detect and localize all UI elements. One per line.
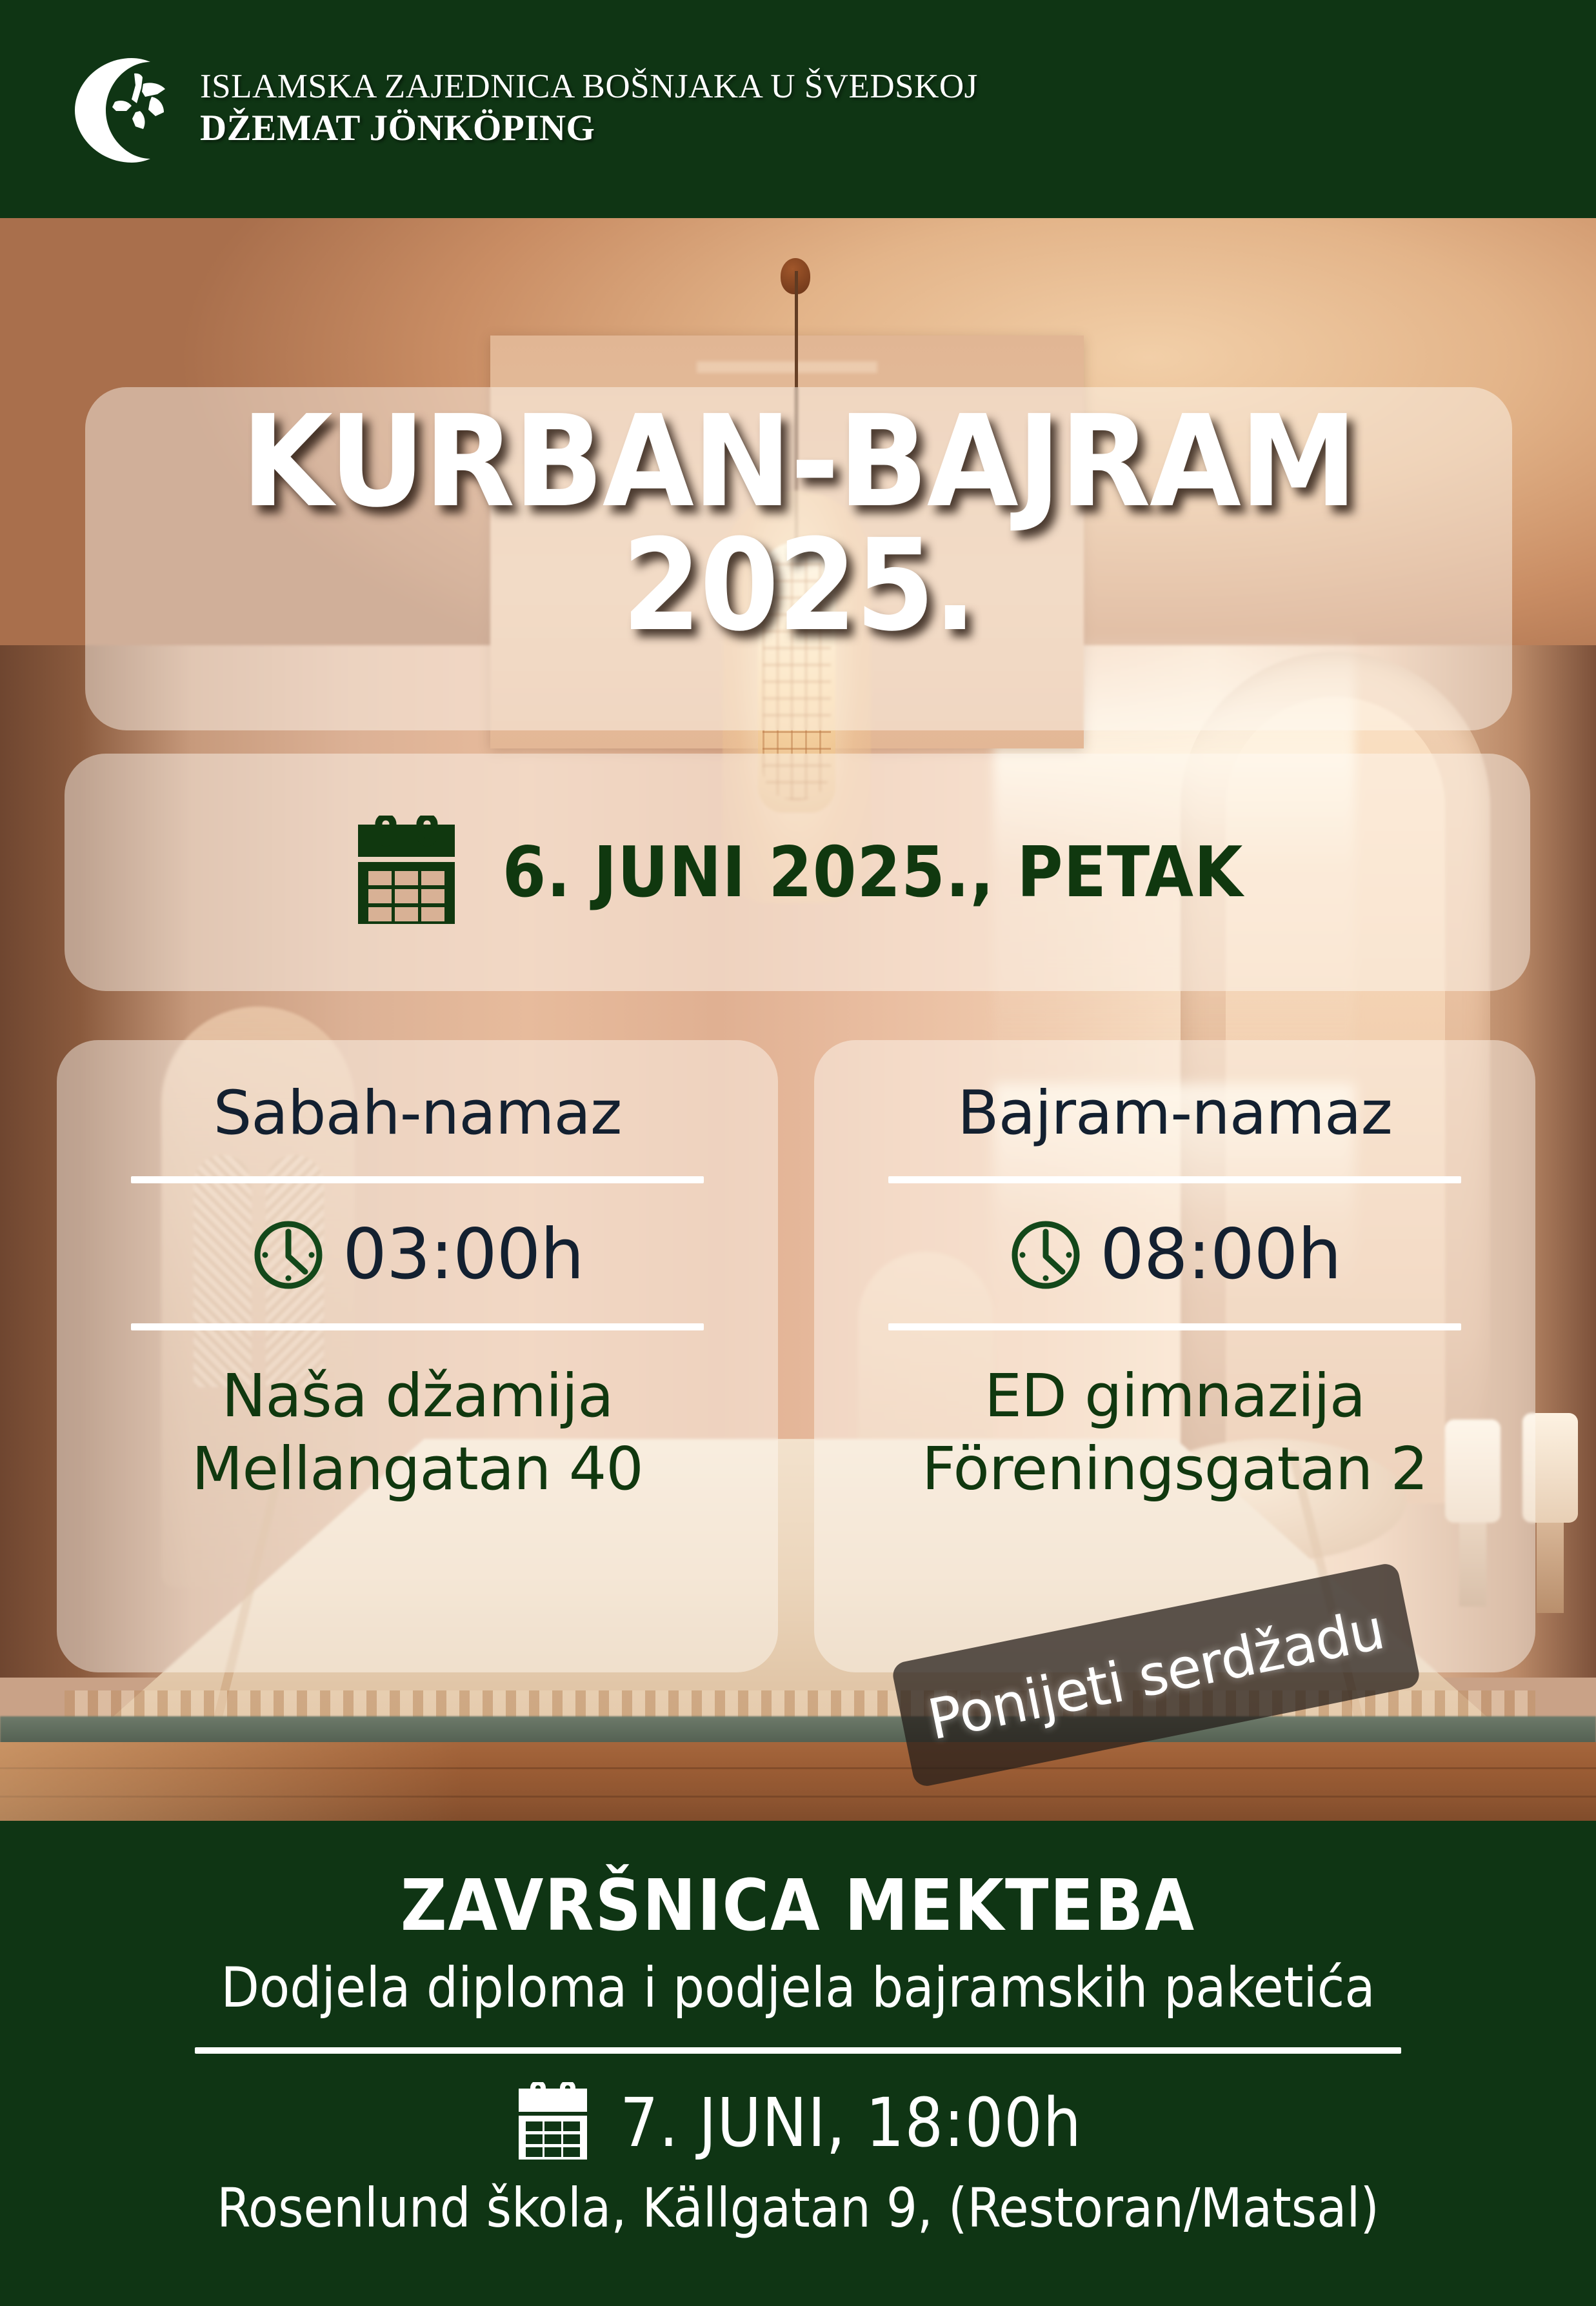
- location-line-1: Naša džamija: [192, 1360, 643, 1432]
- prayer-name: Bajram-namaz: [957, 1080, 1392, 1147]
- footer-address: Rosenlund škola, Källgatan 9, (Restoran/…: [0, 2176, 1596, 2240]
- divider-top: [131, 1176, 704, 1183]
- location-line-2: Föreningsgatan 2: [922, 1433, 1428, 1505]
- event-date-row: 6. JUNI 2025., PETAK: [65, 754, 1530, 991]
- prayer-time-row: 03:00h: [251, 1214, 584, 1295]
- calendar-icon: [514, 2082, 592, 2163]
- prayer-time-row: 08:00h: [1008, 1214, 1341, 1295]
- prayer-name: Sabah-namaz: [214, 1080, 622, 1147]
- candle-stand-right: [1537, 1523, 1564, 1613]
- title-line-1: KURBAN-BAJRAM: [57, 400, 1541, 524]
- brand-text: ISLAMSKA ZAJEDNICA BOŠNJAKA U ŠVEDSKOJ D…: [200, 69, 978, 148]
- bajram-prayer-content: Bajram-namaz 08:00h ED gimnazija Förenin…: [814, 1040, 1535, 1672]
- header-bar: ISLAMSKA ZAJEDNICA BOŠNJAKA U ŠVEDSKOJ D…: [0, 0, 1596, 218]
- page-title: KURBAN-BAJRAM 2025.: [85, 400, 1512, 648]
- poster: ISLAMSKA ZAJEDNICA BOŠNJAKA U ŠVEDSKOJ D…: [0, 0, 1596, 2306]
- footer-date-row: 7. JUNI, 18:00h: [0, 2082, 1596, 2163]
- footer-title: ZAVRŠNICA MEKTEBA: [0, 1870, 1596, 1941]
- divider-bottom: [888, 1323, 1461, 1330]
- prayer-time: 03:00h: [343, 1214, 584, 1295]
- panel-edge: [697, 361, 877, 373]
- event-date-text: 6. JUNI 2025., PETAK: [503, 832, 1244, 913]
- footer-divider: [195, 2047, 1401, 2054]
- prayer-time: 08:00h: [1100, 1214, 1341, 1295]
- footer-date-text: 7. JUNI, 18:00h: [620, 2083, 1082, 2162]
- location-line-2: Mellangatan 40: [192, 1433, 643, 1505]
- title-line-2: 2025.: [85, 524, 1512, 648]
- congregation-name: DŽEMAT JÖNKÖPING: [200, 108, 978, 149]
- clock-icon: [251, 1218, 326, 1292]
- prayer-location: Naša džamija Mellangatan 40: [192, 1360, 643, 1505]
- divider-bottom: [131, 1323, 704, 1330]
- crescent-star-icon: [55, 48, 178, 170]
- divider-top: [888, 1176, 1461, 1183]
- calendar-icon: [352, 816, 461, 929]
- footer-subtitle: Dodjela diploma i podjela bajramskih pak…: [0, 1958, 1596, 2019]
- footer-section: ZAVRŠNICA MEKTEBA Dodjela diploma i podj…: [0, 1821, 1596, 2306]
- prayer-location: ED gimnazija Föreningsgatan 2: [922, 1360, 1428, 1505]
- clock-icon: [1008, 1218, 1083, 1292]
- organization-name: ISLAMSKA ZAJEDNICA BOŠNJAKA U ŠVEDSKOJ: [200, 69, 978, 105]
- floor-highlight: [0, 1742, 581, 1826]
- sabah-prayer-content: Sabah-namaz 03:00h Naša džamija Mellanga…: [57, 1040, 778, 1672]
- location-line-1: ED gimnazija: [922, 1360, 1428, 1432]
